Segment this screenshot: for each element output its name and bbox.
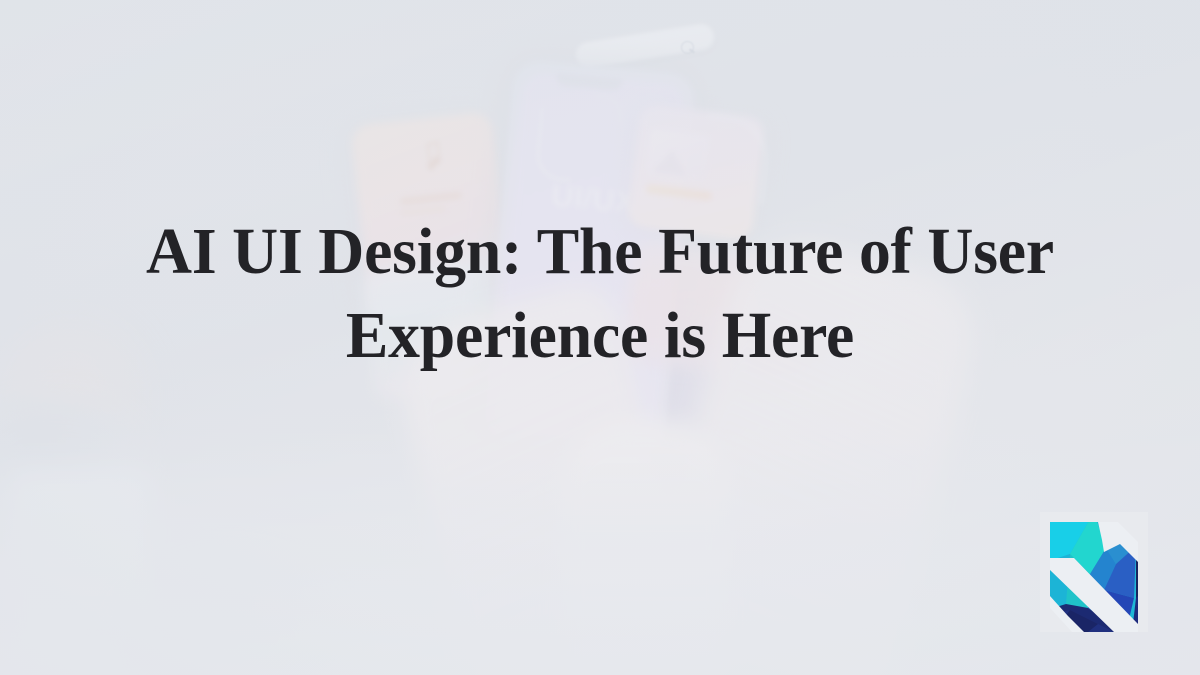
music-note-icon — [416, 141, 441, 173]
page-title: AI UI Design: The Future of User Experie… — [21, 210, 1179, 379]
headline-container: AI UI Design: The Future of User Experie… — [0, 210, 1200, 379]
phone-connector-line-left — [535, 107, 577, 182]
background-lower-fade — [0, 430, 1200, 675]
image-icon-mountain — [653, 148, 690, 176]
brand-logo[interactable] — [1040, 512, 1148, 632]
blog-cover-banner: UI/UX AI UI Design: The Future of User E… — [0, 0, 1200, 675]
